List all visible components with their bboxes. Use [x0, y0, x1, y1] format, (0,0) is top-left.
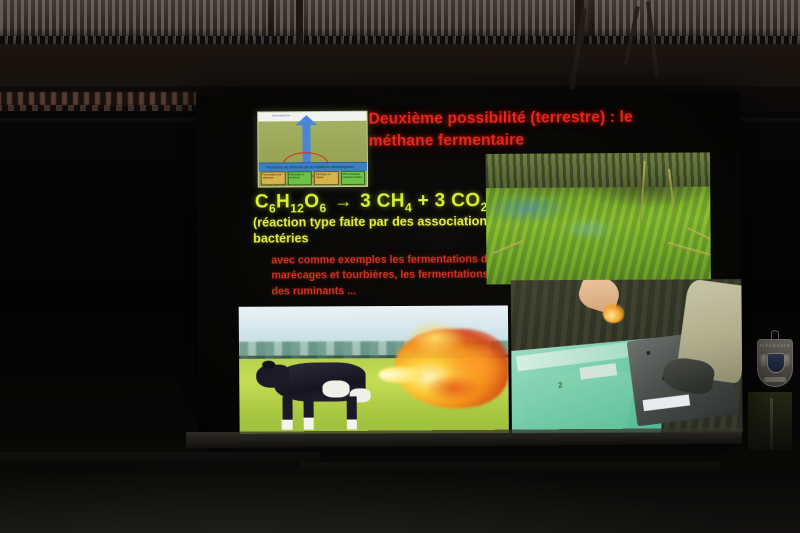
floor-light-glow [0, 453, 800, 533]
roof-post [296, 0, 303, 54]
flame-jet-icon [379, 366, 422, 383]
projection-screen: Deuxième possibilité (terrestre) : le mé… [196, 92, 743, 434]
crest-base-icon [764, 377, 786, 382]
banner-pole [770, 398, 773, 450]
cow-flame-photo [239, 305, 509, 434]
crest-shield-plaque: FLEURANCE [757, 339, 793, 387]
diagram-box: Décharges et rizières [314, 171, 339, 185]
roof-edge-trim [0, 36, 800, 44]
diagram-box: CH4 fermentaire ruminants termites [340, 171, 365, 185]
venue-crest: FLEURANCE [753, 336, 795, 400]
marsh-photo [486, 152, 711, 284]
diagram-footer-label: CH4 vers l'atmosphère [261, 183, 289, 186]
ceiling-beam [0, 46, 800, 53]
boat-methane-photo: 2 [511, 279, 743, 433]
cow-hoof [303, 418, 313, 430]
crest-hook-icon [771, 330, 779, 339]
slide-title: Deuxième possibilité (terrestre) : le mé… [368, 106, 701, 153]
presentation-slide: Deuxième possibilité (terrestre) : le mé… [196, 92, 743, 434]
marsh-background-bank [486, 152, 711, 188]
diagram-box: Marécages et tourbières [287, 171, 312, 185]
bolt-icon [646, 350, 651, 355]
screenshot-root: FLEURANCE Deuxième possibilité (terrestr… [0, 0, 800, 533]
crest-escutcheon-icon [767, 353, 785, 373]
chemical-formula: C6H12O6 → 3 CH4 + 3 CO2 [255, 190, 488, 215]
boat-number: 2 [557, 381, 563, 391]
cow-patch [323, 381, 350, 398]
ceiling-light-strip [0, 92, 196, 105]
ceiling-light-strip [0, 105, 192, 111]
crest-label: FLEURANCE [758, 343, 792, 348]
cow-hoof [346, 419, 356, 429]
methane-emission-schematic: atmosphère Production de méthane par les… [257, 111, 368, 188]
roof-shading [0, 0, 800, 40]
boat-interior [520, 371, 637, 429]
diagram-sky-label: atmosphère [272, 113, 290, 117]
ceiling-beam [0, 60, 800, 86]
ignition-flame-icon [603, 304, 624, 322]
flame [427, 375, 481, 401]
reaction-arrow-icon: → [332, 191, 355, 211]
cow-hoof [282, 419, 292, 429]
diagram-band-label: Production de méthane par les bactéries … [267, 164, 354, 169]
formula-reactant: C6H12O6 [255, 191, 327, 212]
screen-surface: Deuxième possibilité (terrestre) : le mé… [196, 92, 743, 434]
formula-products: 3 CH4 + 3 CO2 [360, 190, 488, 212]
